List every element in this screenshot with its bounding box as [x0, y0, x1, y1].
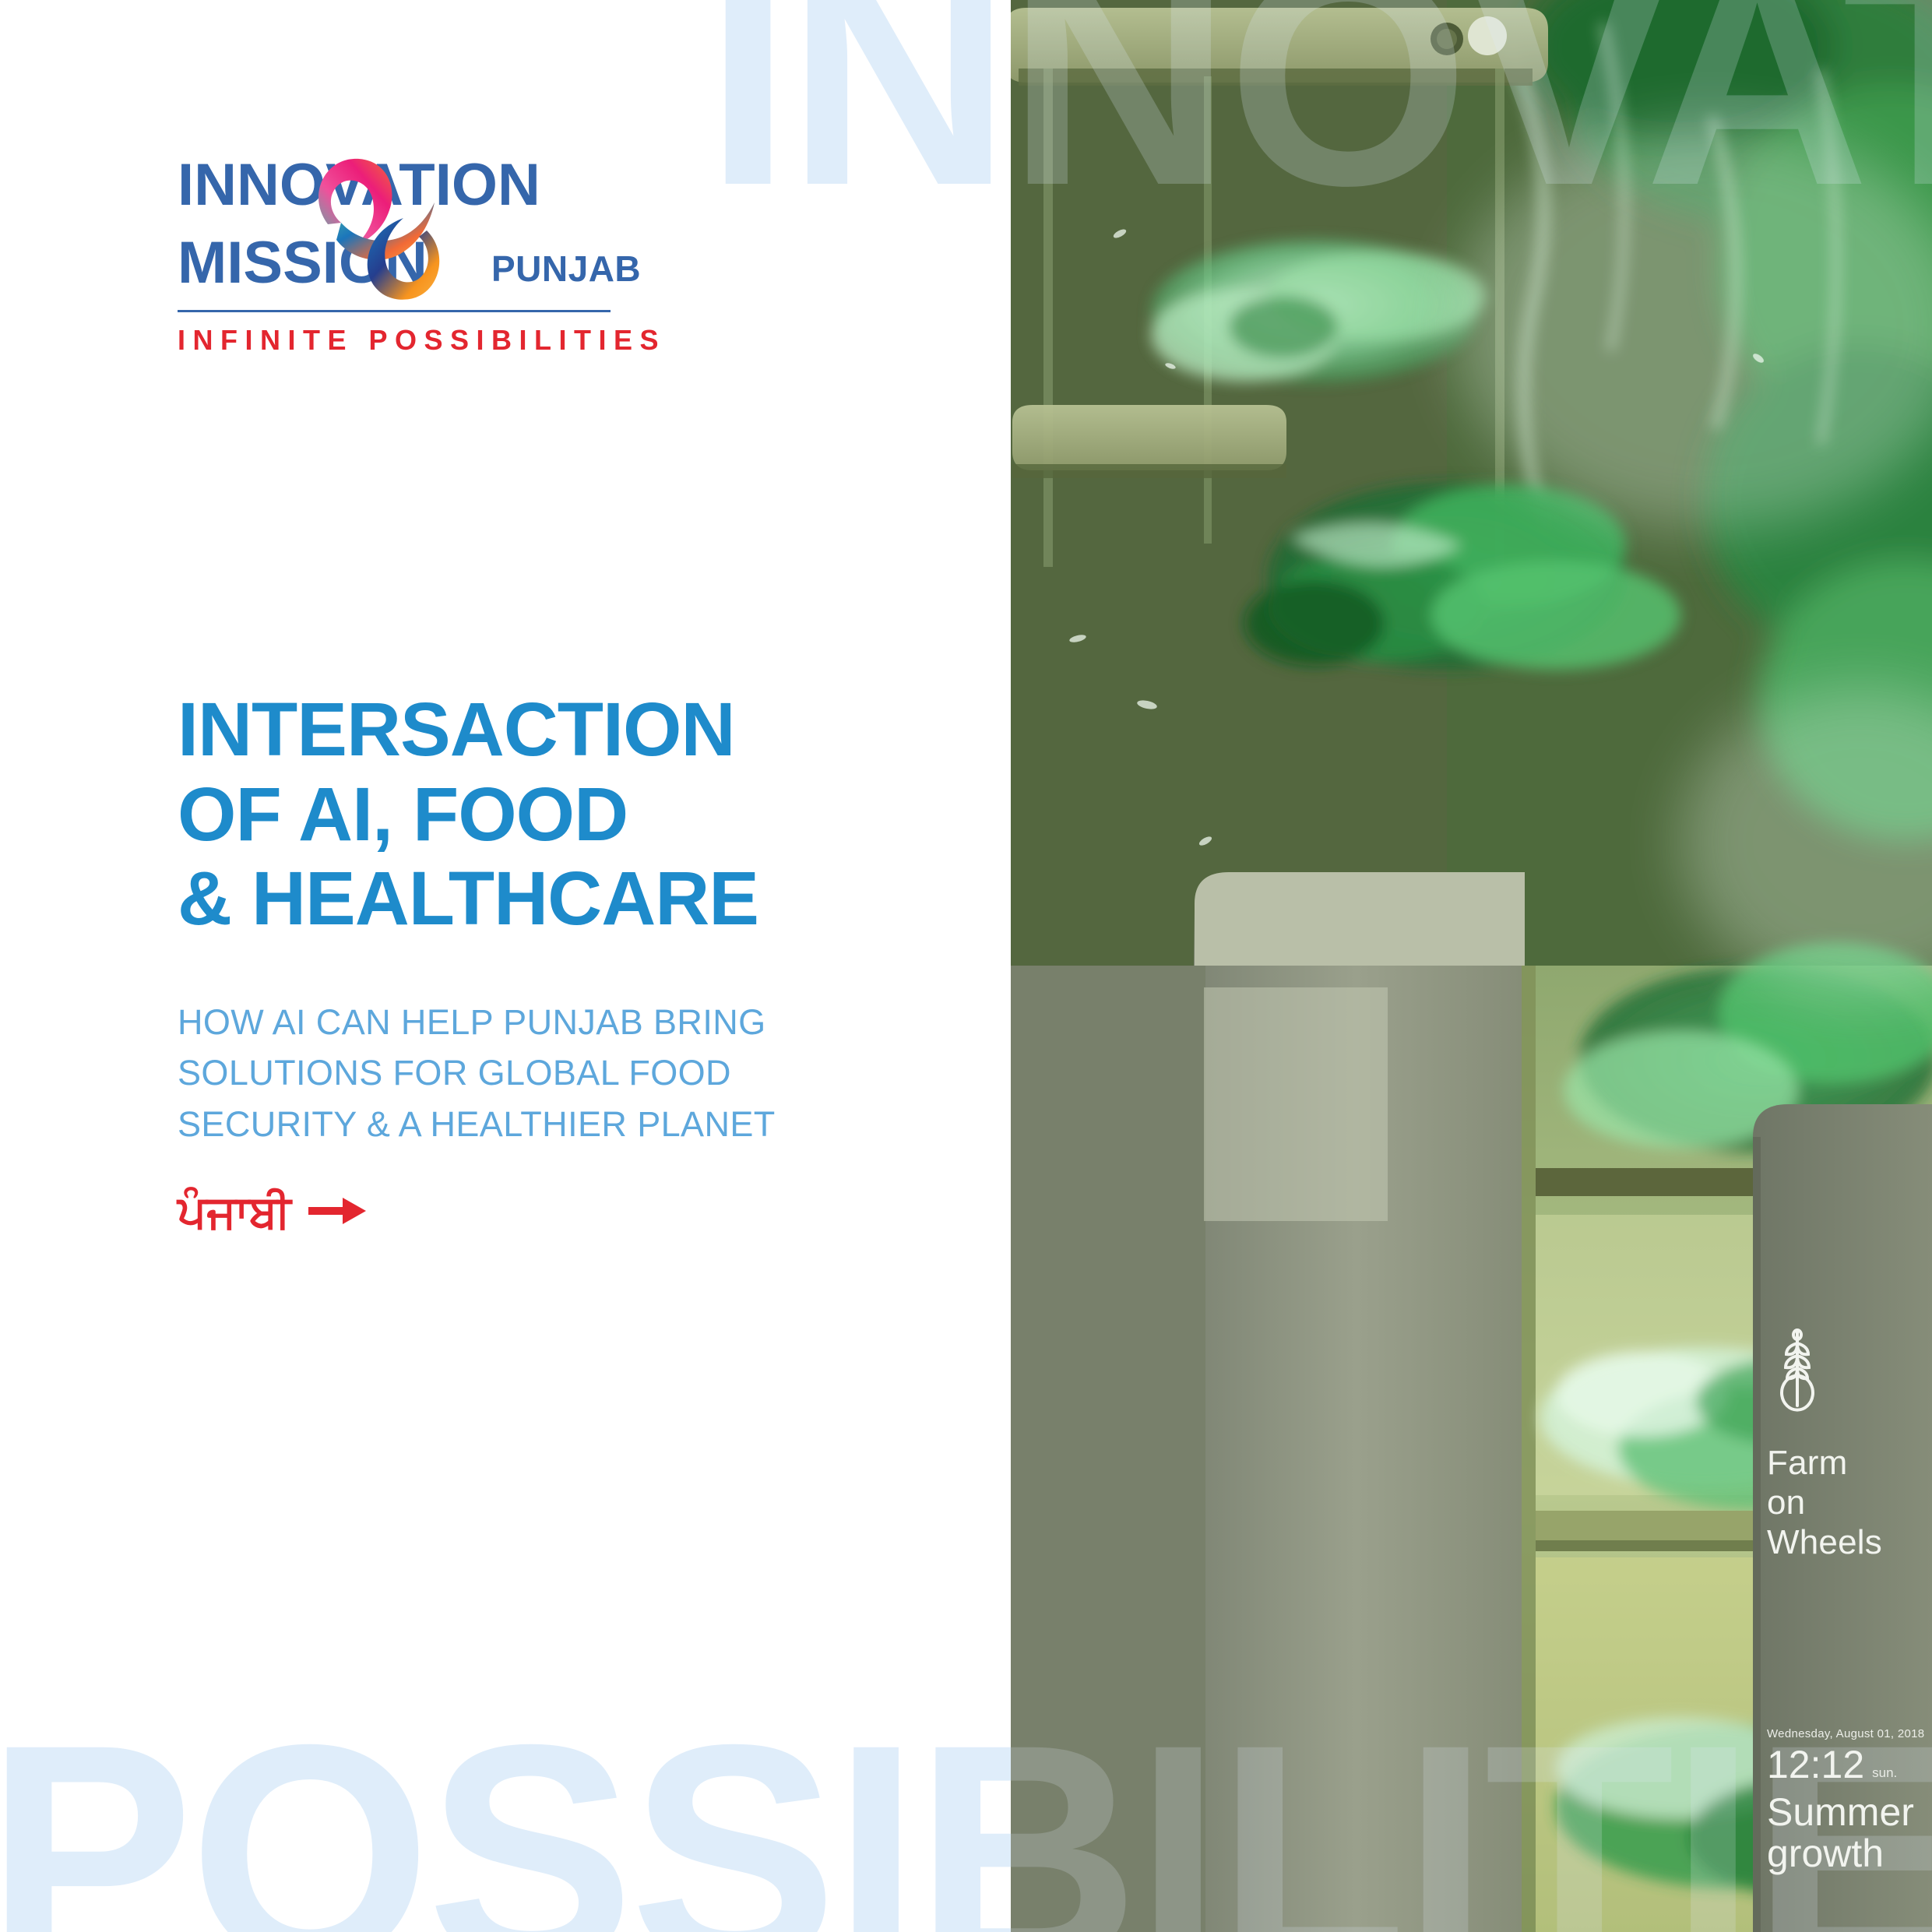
brand-logo: INNOVATION MISSION PUNJAB	[178, 156, 614, 300]
logo-line-punjab: PUNJAB	[491, 248, 641, 290]
headline-line-1: INTERSACTION	[178, 688, 878, 772]
arrow-right-icon	[308, 1197, 366, 1228]
subtitle-line-3: SECURITY & A HEALTHIER PLANET	[178, 1099, 894, 1149]
punjabi-label: ਪੰਜਾਬੀ	[178, 1190, 291, 1235]
page-subtitle: HOW AI CAN HELP PUNJAB BRING SOLUTIONS F…	[178, 997, 894, 1149]
subtitle-line-2: SOLUTIONS FOR GLOBAL FOOD	[178, 1047, 894, 1098]
poster-canvas: INNOVATION POSSIBILITIES	[0, 0, 1932, 1932]
subtitle-line-1: HOW AI CAN HELP PUNJAB BRING	[178, 997, 894, 1047]
logo-line-innovation: INNOVATION	[178, 156, 540, 215]
headline-line-3: & HEALTHCARE	[178, 857, 878, 941]
logo-line-mission: MISSION	[178, 234, 428, 293]
hydroponic-farm-illustration	[1011, 0, 1932, 1932]
logo-tagline: INFINITE POSSIBILITIES	[178, 324, 666, 357]
punjabi-language-link[interactable]: ਪੰਜਾਬੀ	[178, 1190, 366, 1235]
logo-divider-rule	[178, 310, 611, 312]
logo-wordmark: INNOVATION MISSION PUNJAB	[178, 156, 614, 300]
headline-line-2: OF AI, FOOD	[178, 772, 878, 857]
page-title: INTERSACTION OF AI, FOOD & HEALTHCARE	[178, 688, 878, 941]
hero-photo	[1011, 0, 1932, 1932]
